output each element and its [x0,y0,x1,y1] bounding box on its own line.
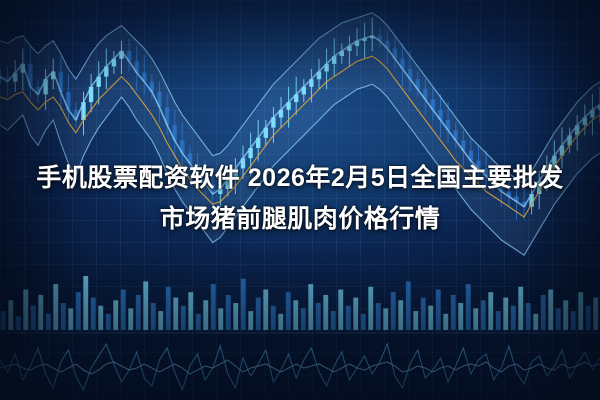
stock-background-image: 手机股票配资软件 2026年2月5日全国主要批发 市场猪前腿肌肉价格行情 [0,0,600,400]
headline-line-2: 市场猪前腿肌肉价格行情 [22,199,578,240]
overlay-headline: 手机股票配资软件 2026年2月5日全国主要批发 市场猪前腿肌肉价格行情 [0,158,600,240]
headline-line-1: 手机股票配资软件 2026年2月5日全国主要批发 [36,164,563,192]
